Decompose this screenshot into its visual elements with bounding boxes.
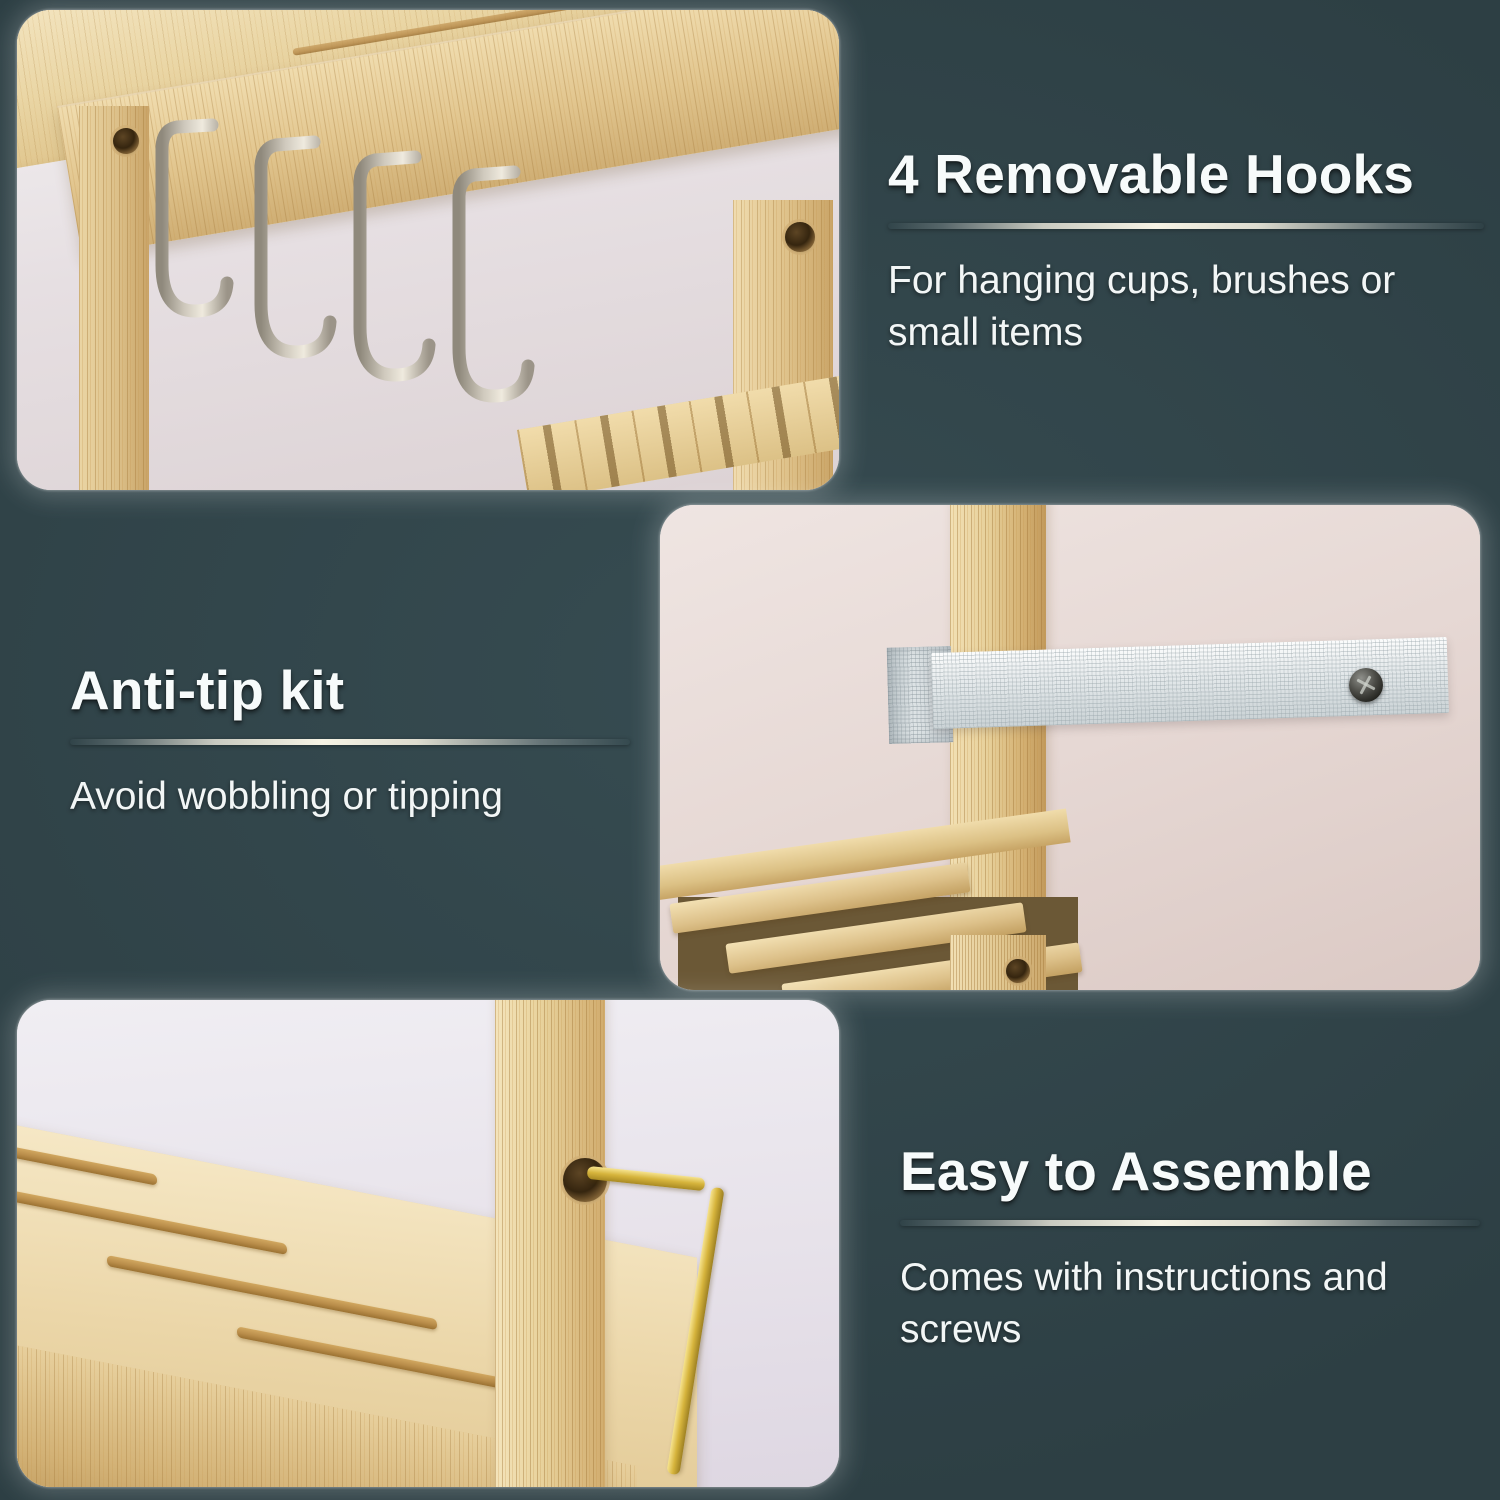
feature-subtext: Comes with instructions and screws bbox=[900, 1252, 1480, 1356]
strap-screw bbox=[1349, 668, 1383, 702]
feature-text-removable-hooks: 4 Removable Hooks For hanging cups, brus… bbox=[888, 146, 1484, 359]
feature-heading-lead: 4 bbox=[888, 143, 919, 205]
feature-text-easy-to-assemble: Easy to Assemble Comes with instructions… bbox=[900, 1143, 1480, 1356]
heading-divider bbox=[888, 223, 1484, 229]
feature-heading: 4 Removable Hooks bbox=[888, 146, 1484, 203]
heading-divider bbox=[900, 1220, 1480, 1226]
bamboo-post-lower bbox=[950, 935, 1046, 990]
feature-subtext: Avoid wobbling or tipping bbox=[70, 771, 630, 823]
feature-heading: Anti-tip kit bbox=[70, 662, 630, 719]
feature-text-anti-tip-kit: Anti-tip kit Avoid wobbling or tipping bbox=[70, 662, 630, 823]
photo-panel-removable-hooks bbox=[17, 10, 839, 490]
s-hook-4 bbox=[422, 162, 652, 462]
heading-divider bbox=[70, 739, 630, 745]
bamboo-post bbox=[495, 1000, 605, 1487]
screw-hole bbox=[1006, 959, 1030, 983]
photo-panel-easy-to-assemble bbox=[17, 1000, 839, 1487]
screw-hole bbox=[785, 222, 815, 252]
feature-heading: Easy to Assemble bbox=[900, 1143, 1480, 1200]
photo-panel-anti-tip-strap bbox=[660, 505, 1480, 990]
feature-heading-rest: Removable Hooks bbox=[919, 143, 1414, 205]
screw-hole bbox=[113, 128, 139, 154]
feature-subtext: For hanging cups, brushes or small items bbox=[888, 255, 1484, 359]
infographic-root: 4 Removable Hooks For hanging cups, brus… bbox=[0, 0, 1500, 1500]
